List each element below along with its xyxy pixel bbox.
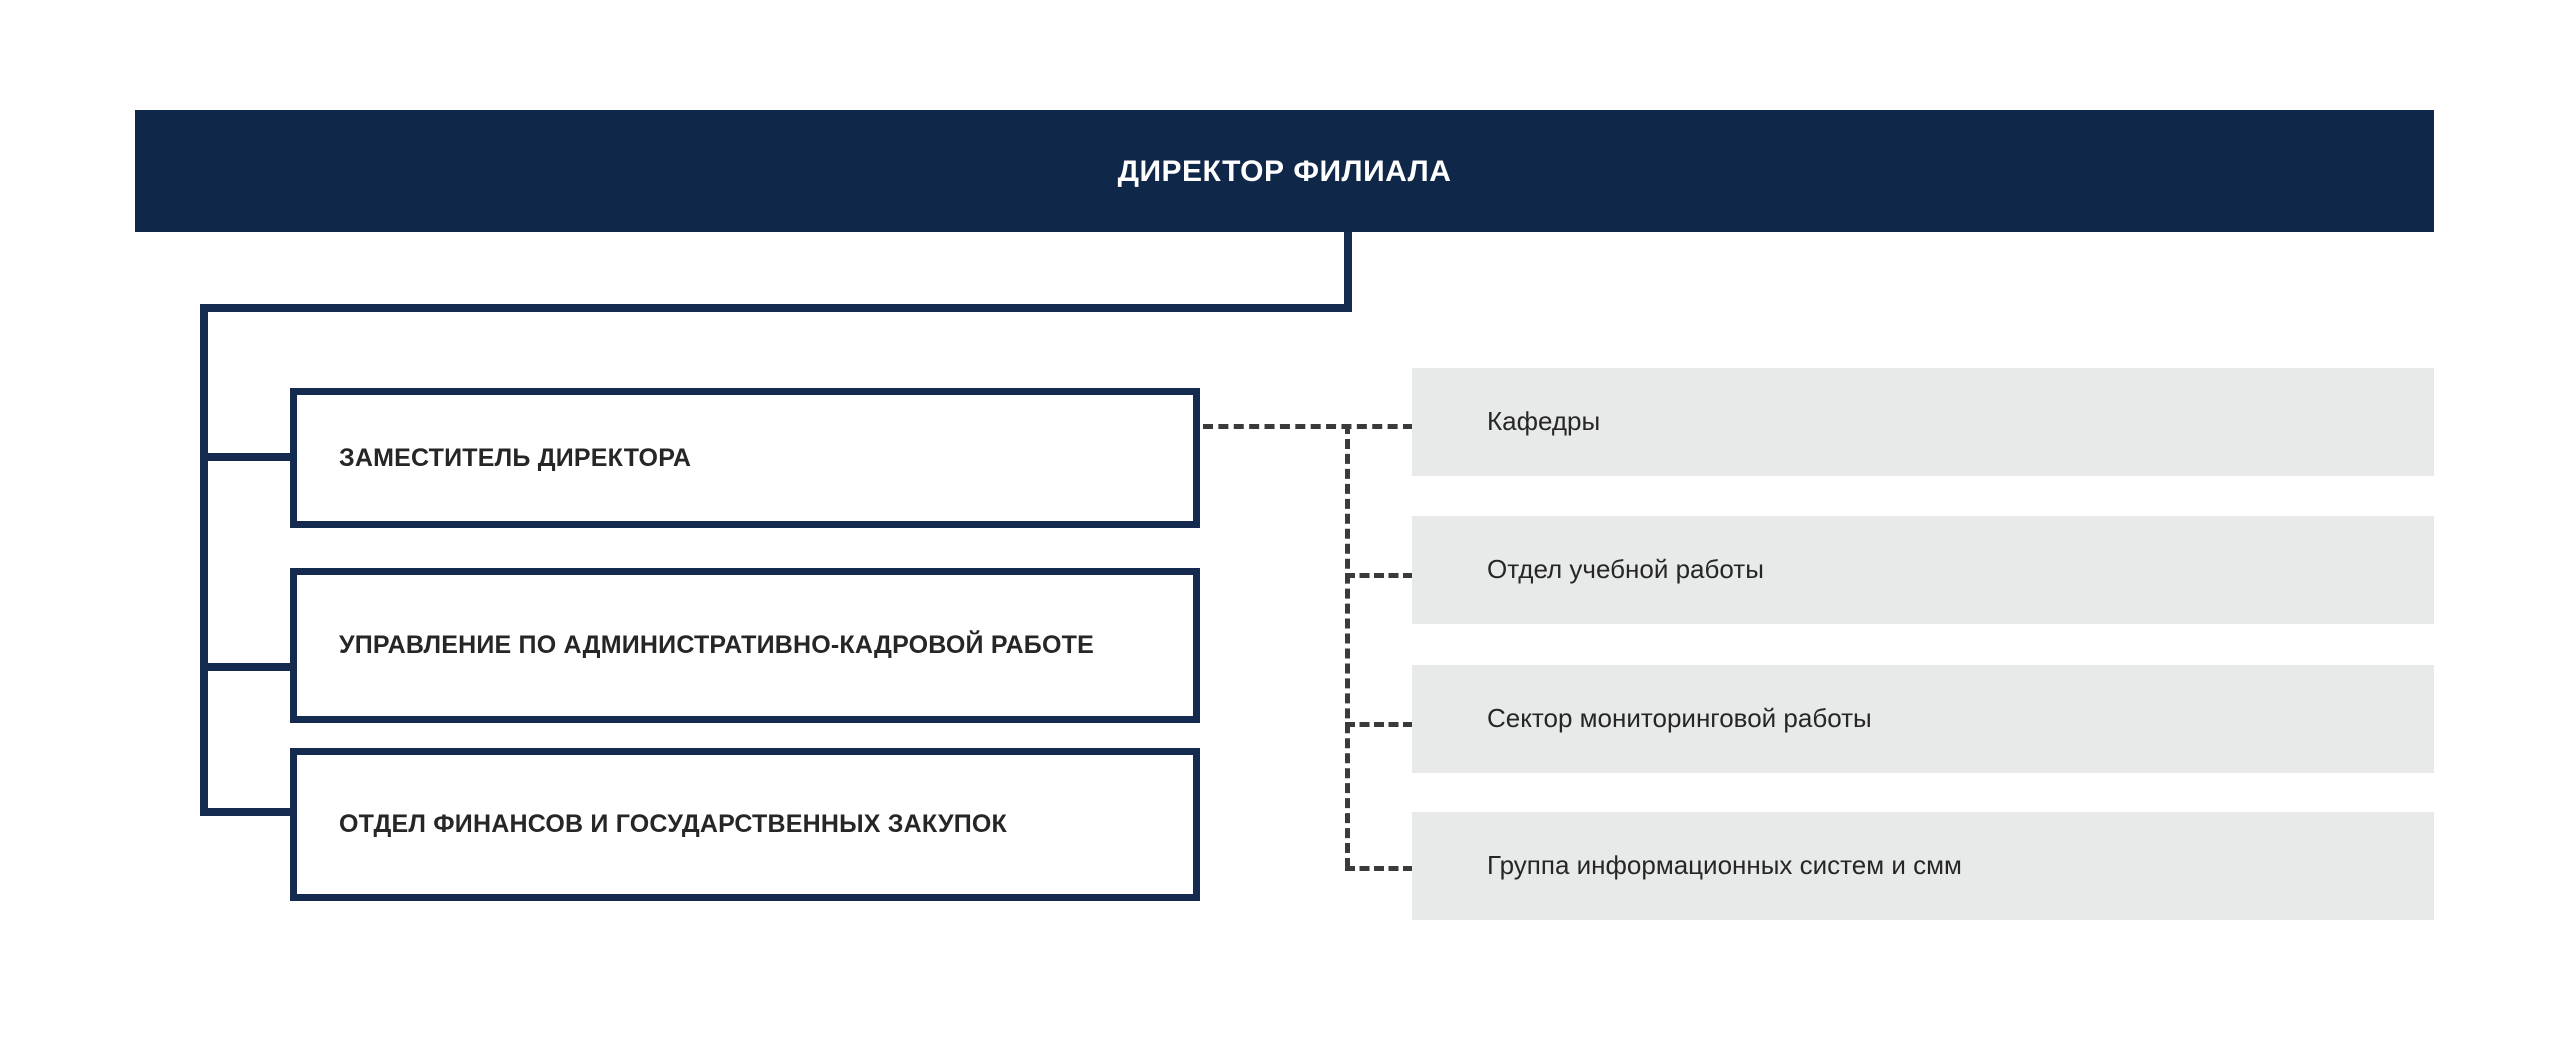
org-node-administrative-hr-department[interactable]: УПРАВЛЕНИЕ ПО АДМИНИСТРАТИВНО-КАДРОВОЙ Р… <box>290 568 1200 723</box>
dotted-connector-stub-monitoring-sector <box>1345 722 1413 727</box>
org-node-label-deputy-director: ЗАМЕСТИТЕЛЬ ДИРЕКТОРА <box>297 442 711 475</box>
org-node-finance-procurement-department[interactable]: ОТДЕЛ ФИНАНСОВ И ГОСУДАРСТВЕННЫХ ЗАКУПОК <box>290 748 1200 901</box>
org-subnode-label-monitoring-sector: Сектор мониторинговой работы <box>1412 702 1896 736</box>
org-node-deputy-director[interactable]: ЗАМЕСТИТЕЛЬ ДИРЕКТОРА <box>290 388 1200 528</box>
org-root-label: ДИРЕКТОР ФИЛИАЛА <box>1118 155 1452 188</box>
org-subnode-information-systems-group[interactable]: Группа информационных систем и смм <box>1412 812 2434 920</box>
connector-left-trunk-vertical <box>200 304 208 816</box>
dotted-connector-stub-information-systems-group <box>1345 866 1413 871</box>
connector-stub-finance-department <box>200 808 295 816</box>
org-subnode-label-training-department: Отдел учебной работы <box>1412 553 1788 587</box>
org-subnode-label-departments: Кафедры <box>1412 405 1624 439</box>
dotted-connector-stub-training-department <box>1345 573 1413 578</box>
org-subnode-departments[interactable]: Кафедры <box>1412 368 2434 476</box>
org-node-label-finance-procurement-department: ОТДЕЛ ФИНАНСОВ И ГОСУДАРСТВЕННЫХ ЗАКУПОК <box>297 808 1027 841</box>
connector-root-vertical <box>1344 232 1352 312</box>
org-node-label-administrative-hr-department: УПРАВЛЕНИЕ ПО АДМИНИСТРАТИВНО-КАДРОВОЙ Р… <box>297 629 1114 662</box>
connector-root-horizontal <box>200 304 1352 312</box>
org-subnode-label-information-systems-group: Группа информационных систем и смм <box>1412 849 1986 883</box>
dotted-connector-deputy-to-trunk <box>1203 424 1413 429</box>
connector-stub-hr-department <box>200 663 295 671</box>
connector-stub-deputy <box>200 453 295 461</box>
org-chart-canvas: ДИРЕКТОР ФИЛИАЛА ЗАМЕСТИТЕЛЬ ДИРЕКТОРА У… <box>0 0 2560 1064</box>
org-subnode-training-department[interactable]: Отдел учебной работы <box>1412 516 2434 624</box>
org-root-node-director[interactable]: ДИРЕКТОР ФИЛИАЛА <box>135 110 2434 232</box>
org-subnode-monitoring-sector[interactable]: Сектор мониторинговой работы <box>1412 665 2434 773</box>
dotted-connector-trunk-vertical <box>1345 424 1350 868</box>
